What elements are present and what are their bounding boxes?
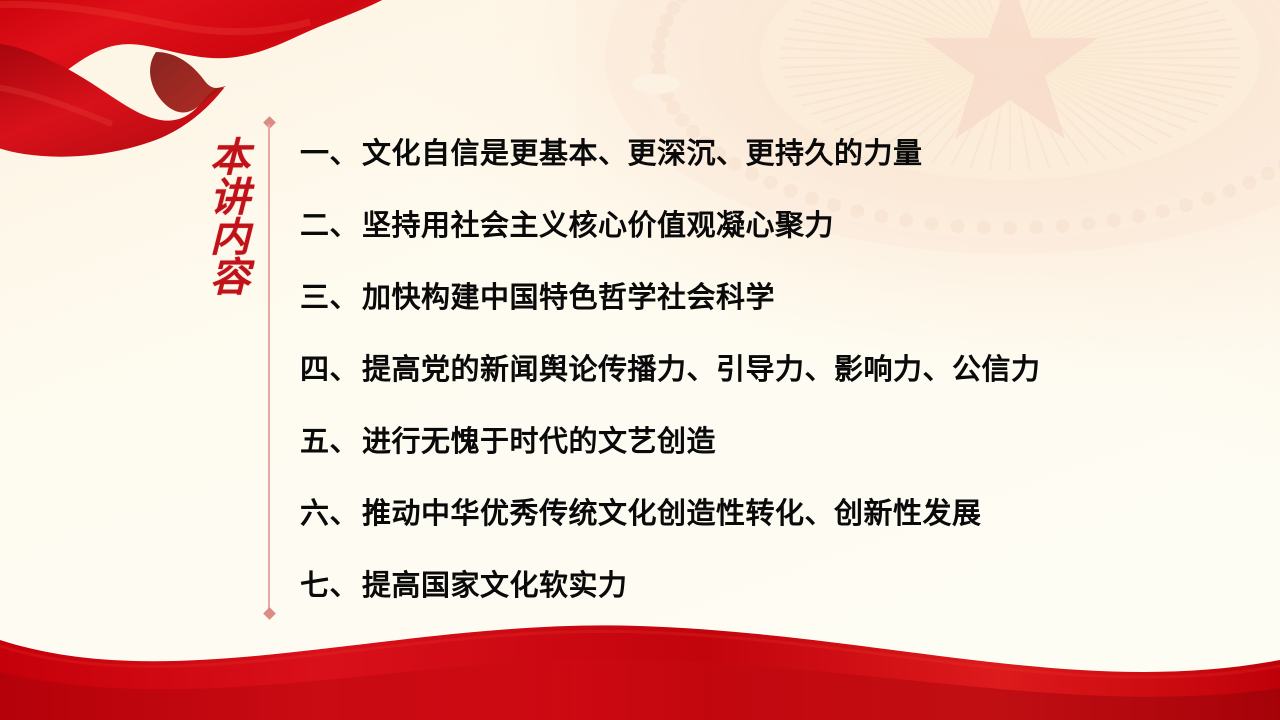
list-item-number: 四、 xyxy=(300,346,362,388)
list-item-label: 提高国家文化软实力 xyxy=(362,562,628,604)
list-item-number: 三、 xyxy=(300,274,362,316)
list-item-label: 进行无愧于时代的文艺创造 xyxy=(362,418,716,460)
list-item-label: 推动中华优秀传统文化创造性转化、创新性发展 xyxy=(362,490,982,532)
page-title-vertical: 本讲内容 xyxy=(196,108,252,323)
list-item[interactable]: 五、 进行无愧于时代的文艺创造 xyxy=(300,418,1250,490)
list-item[interactable]: 一、 文化自信是更基本、更深沉、更持久的力量 xyxy=(300,130,1250,202)
list-item-label: 加快构建中国特色哲学社会科学 xyxy=(362,274,775,316)
list-item-number: 五、 xyxy=(300,418,362,460)
list-item[interactable]: 四、 提高党的新闻舆论传播力、引导力、影响力、公信力 xyxy=(300,346,1250,418)
list-item[interactable]: 三、 加快构建中国特色哲学社会科学 xyxy=(300,274,1250,346)
list-item-label: 坚持用社会主义核心价值观凝心聚力 xyxy=(362,202,834,244)
list-item-number: 一、 xyxy=(300,130,362,172)
list-item-number: 二、 xyxy=(300,202,362,244)
list-item-number: 六、 xyxy=(300,490,362,532)
list-item[interactable]: 六、 推动中华优秀传统文化创造性转化、创新性发展 xyxy=(300,490,1250,562)
outline-list: 一、 文化自信是更基本、更深沉、更持久的力量 二、 坚持用社会主义核心价值观凝心… xyxy=(300,130,1250,634)
presentation-slide: 本讲内容 一、 文化自信是更基本、更深沉、更持久的力量 二、 坚持用社会主义核心… xyxy=(0,0,1280,720)
list-item[interactable]: 二、 坚持用社会主义核心价值观凝心聚力 xyxy=(300,202,1250,274)
vertical-divider xyxy=(262,116,276,620)
list-item[interactable]: 七、 提高国家文化软实力 xyxy=(300,562,1250,634)
list-item-label: 文化自信是更基本、更深沉、更持久的力量 xyxy=(362,130,923,172)
list-item-number: 七、 xyxy=(300,562,362,604)
list-item-label: 提高党的新闻舆论传播力、引导力、影响力、公信力 xyxy=(362,346,1041,388)
diamond-cap-bottom-icon xyxy=(263,607,276,620)
divider-line xyxy=(268,124,270,612)
